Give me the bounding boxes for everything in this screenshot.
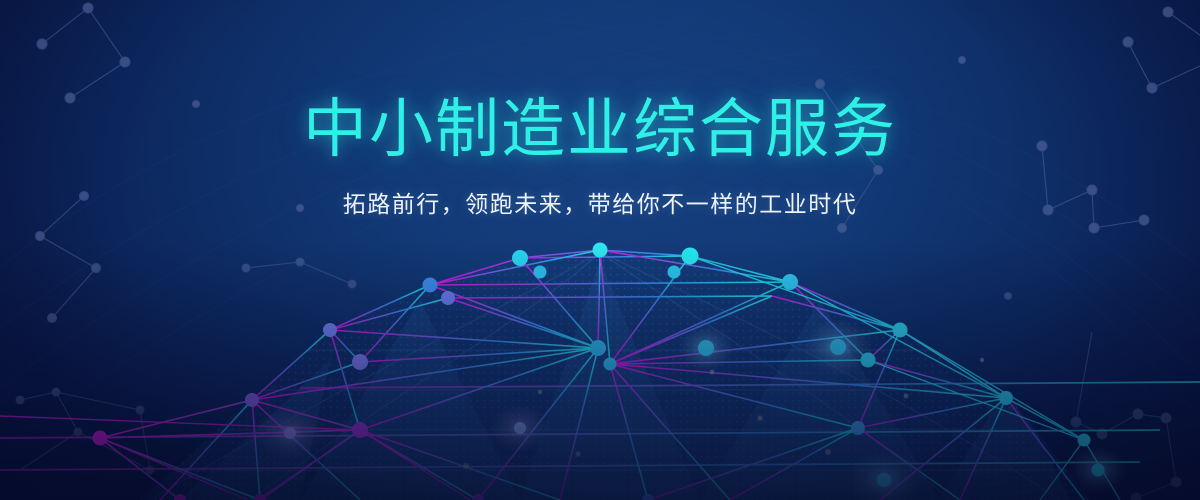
background-bottom-fade xyxy=(0,240,1200,500)
hero-text-block: 中小制造业综合服务 拓路前行，领跑未来，带给你不一样的工业时代 xyxy=(0,96,1200,219)
page-title: 中小制造业综合服务 xyxy=(0,96,1200,165)
page-subtitle: 拓路前行，领跑未来，带给你不一样的工业时代 xyxy=(0,185,1200,219)
hero-banner: 中小制造业综合服务 拓路前行，领跑未来，带给你不一样的工业时代 xyxy=(0,0,1200,500)
